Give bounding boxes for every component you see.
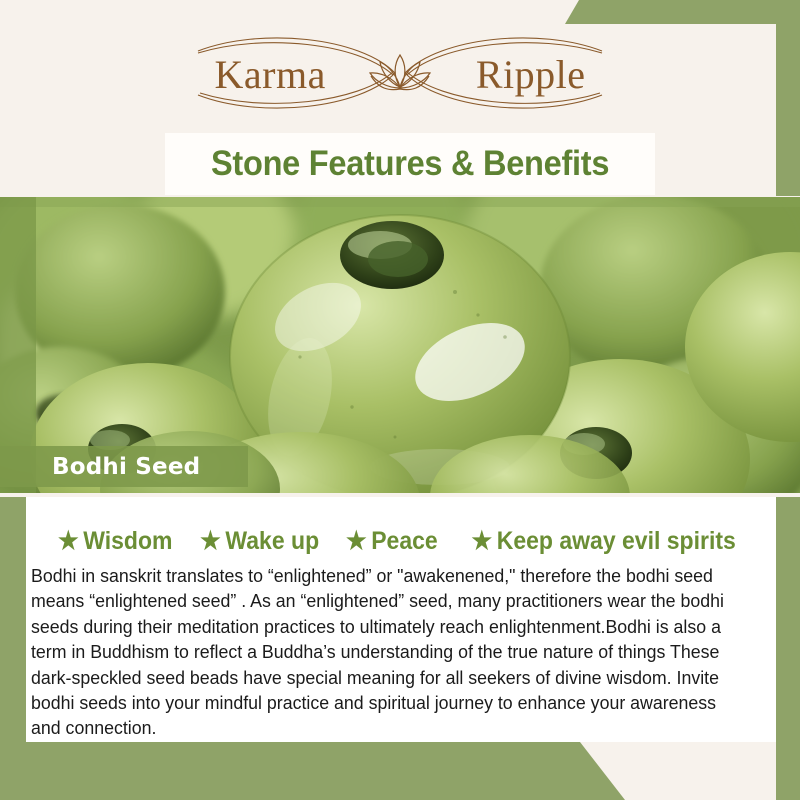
star-icon: ★: [58, 529, 79, 554]
brand-name-right: Ripple: [476, 51, 586, 98]
page-title: Stone Features & Benefits: [211, 144, 609, 184]
frame-band-bottom: [0, 742, 625, 800]
bodhi-seed-photo: Bodhi Seed: [0, 197, 800, 493]
description-paragraph: Bodhi in sanskrit translates to “enlight…: [31, 563, 742, 741]
infographic-canvas: Karma Ripple Stone Features & Benefits: [0, 0, 800, 800]
benefit-label: Peace: [372, 527, 439, 556]
benefit-item-wake-up: ★ Wake up: [200, 527, 319, 556]
benefits-row: ★ Wisdom ★ Wake up ★ Peace ★ Keep away e…: [0, 521, 800, 561]
seed-name-label: Bodhi Seed: [0, 446, 248, 487]
benefit-label: Wisdom: [83, 527, 172, 556]
brand-logo: Karma Ripple: [0, 24, 800, 124]
benefit-label: Keep away evil spirits: [497, 527, 736, 556]
star-icon: ★: [200, 529, 221, 554]
benefit-item-peace: ★ Peace: [346, 527, 438, 556]
benefit-item-wisdom: ★ Wisdom: [58, 527, 172, 556]
seed-name-text: Bodhi Seed: [52, 454, 200, 480]
benefit-label: Wake up: [225, 527, 319, 556]
star-icon: ★: [346, 529, 367, 554]
benefit-item-keep-away-evil-spirits: ★ Keep away evil spirits: [472, 527, 736, 556]
brand-name-left: Karma: [215, 51, 326, 98]
frame-band-top-right: [565, 0, 800, 24]
star-icon: ★: [472, 529, 493, 554]
section-title-banner: Stone Features & Benefits: [165, 133, 655, 195]
